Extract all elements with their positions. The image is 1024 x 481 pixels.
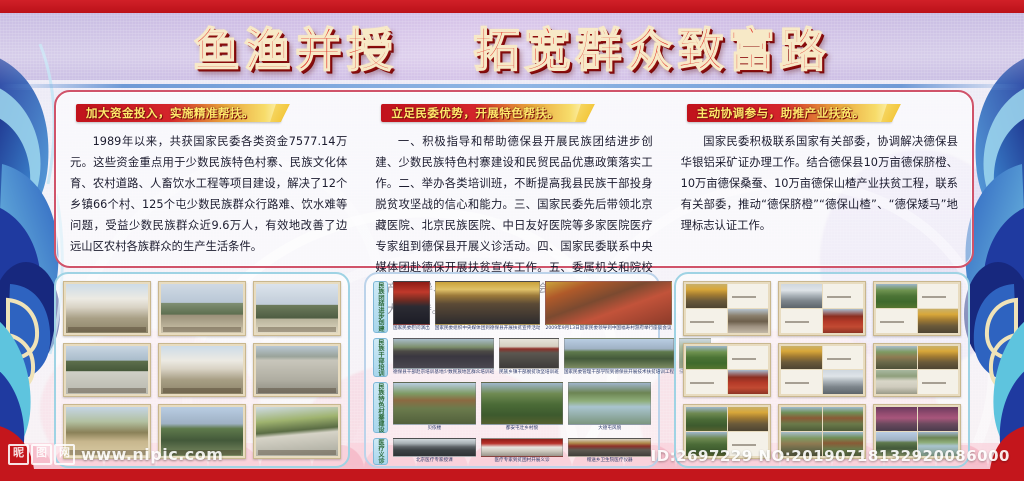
photo-caption: 国家民委慰问演出: [393, 325, 430, 333]
photo-frame: [253, 281, 341, 336]
bottom-red-bar: [0, 469, 1024, 481]
photo-frame: [253, 404, 341, 459]
photo-rows-middle: 民族团结进步创建国家民委慰问演出国家民委组织中央媒体团到德保县开展扶贫宣传活动2…: [373, 281, 651, 459]
photo-image: [393, 338, 494, 369]
photo-frame: [873, 404, 961, 459]
photo-image: [161, 284, 243, 333]
photo-image: [876, 407, 917, 431]
photo-image: [256, 284, 338, 333]
photo-frame: [158, 281, 246, 336]
photo-caption-bar: [163, 450, 241, 455]
photo-image: [918, 370, 959, 394]
photo-caption: 贝侬楼: [393, 425, 476, 433]
photo-image: [918, 432, 959, 456]
photo-collage: [781, 284, 863, 333]
photo-panel-middle: 民族团结进步创建国家民委慰问演出国家民委组织中央媒体团到德保县开展扶贫宣传活动2…: [364, 272, 660, 468]
photo-image: [918, 407, 959, 431]
top-red-bar: [0, 0, 1024, 13]
photo-image: [876, 346, 917, 370]
photo-collage: [876, 284, 958, 333]
photo-caption-bar: [163, 327, 241, 332]
photo-caption: 北京医疗专家授课: [393, 457, 476, 465]
photo-row: 医疗义诊北京医疗专家授课医疗专家到贫困村开展义诊赠送乡卫生院医疗仪器: [373, 438, 651, 465]
photo-collage: [781, 346, 863, 395]
photo-image: [481, 438, 564, 457]
photo-image: [823, 346, 864, 370]
photo-frame: [873, 281, 961, 336]
photo-image: [66, 346, 148, 395]
category-label: 医疗义诊: [373, 438, 388, 465]
photo-cell: 北京医疗专家授课: [393, 438, 476, 465]
photo-panel-left: [54, 272, 350, 468]
photo-caption-bar: [258, 388, 336, 393]
photo-caption-bar: [68, 388, 146, 393]
photo-image: [499, 338, 559, 369]
photo-image: [686, 407, 727, 431]
photo-frame: [63, 404, 151, 459]
photo-collage: [686, 284, 768, 333]
photo-panel-right: [674, 272, 970, 468]
photo-caption-bar: [258, 327, 336, 332]
photo-row: 民族特色村寨建设贝侬楼都安屯壮乡村貌大德屯风貌: [373, 382, 651, 434]
photo-cell: 国家民委组织中央媒体团到德保县开展扶贫宣传活动: [435, 281, 541, 333]
photo-frame: [778, 343, 866, 398]
photo-image: [823, 370, 864, 394]
photo-cell: 都安屯壮乡村貌: [481, 382, 564, 434]
page-title: 鱼渔并授 拓宽群众致富路: [0, 14, 1024, 80]
photo-caption-bar: [163, 388, 241, 393]
category-label-text: 民族干部培训: [377, 339, 384, 376]
header-label: 立足民委优势，开展特色帮扶。: [391, 105, 559, 121]
photo-image: [564, 338, 674, 369]
photo-grid-left: [63, 281, 341, 459]
photo-image: [435, 281, 541, 325]
photo-caption: 赠送乡卫生院医疗仪器: [568, 457, 651, 465]
photo-grid-right: [683, 281, 961, 459]
photo-caption: 国家民委组织中央媒体团到德保县开展扶贫宣传活动: [435, 325, 541, 333]
photo-caption: 大德屯风貌: [568, 425, 651, 433]
column-header-1: 加大资金投入，实施精准帮扶。: [76, 104, 341, 122]
photo-image: [256, 346, 338, 395]
photo-image: [686, 309, 727, 333]
text-columns: 加大资金投入，实施精准帮扶。 1989年以来，共获国家民委各类资金7577.14…: [56, 92, 972, 266]
photo-image: [686, 432, 727, 456]
title-part-2: 拓宽群众致富路: [474, 23, 831, 77]
photo-frame: [253, 343, 341, 398]
photo-image: [66, 284, 148, 333]
photo-image: [161, 346, 243, 395]
photo-image: [918, 284, 959, 308]
photo-frame: [63, 343, 151, 398]
photo-image: [686, 284, 727, 308]
photo-frame: [683, 404, 771, 459]
photo-caption: 德保县干部赴京培训基地少数民族地区群众培训班: [393, 369, 494, 377]
photo-frame: [683, 343, 771, 398]
photo-image: [876, 284, 917, 308]
photo-image: [728, 284, 769, 308]
photo-image: [393, 438, 476, 457]
photo-image: [918, 309, 959, 333]
photo-caption: 民族乡镇干部脱贫攻坚培训班: [499, 369, 559, 377]
photo-collage: [781, 407, 863, 456]
photo-image: [728, 346, 769, 370]
photo-image: [393, 382, 476, 426]
column-header-2: 立足民委优势，开展特色帮扶。: [381, 104, 646, 122]
category-label: 民族特色村寨建设: [373, 382, 388, 434]
photo-caption-bar: [258, 450, 336, 455]
photo-collage: [876, 407, 958, 456]
photo-image: [686, 370, 727, 394]
photo-caption: 医疗专家到贫困村开展义诊: [481, 457, 564, 465]
photo-image: [161, 407, 243, 456]
photo-cell: 医疗专家到贫困村开展义诊: [481, 438, 564, 465]
category-label-text: 民族团结进步创建: [377, 282, 384, 332]
photo-panels: 民族团结进步创建国家民委慰问演出国家民委组织中央媒体团到德保县开展扶贫宣传活动2…: [54, 272, 970, 468]
photo-image: [876, 432, 917, 456]
photo-image: [781, 284, 822, 308]
photo-image: [728, 432, 769, 456]
category-label: 民族干部培训: [373, 338, 388, 377]
photo-image: [66, 407, 148, 456]
photo-frame: [873, 343, 961, 398]
photo-collage: [876, 346, 958, 395]
photo-cell: 德保县干部赴京培训基地少数民族地区群众培训班: [393, 338, 494, 377]
photo-caption: 国家民委管理干部学院到德保县开展技术扶贫培训工程: [564, 369, 674, 377]
photo-frame: [63, 281, 151, 336]
photo-frame: [683, 281, 771, 336]
column-body-1: 1989年以来，共获国家民委各类资金7577.14万元。这些资金重点用于少数民族…: [70, 131, 347, 257]
photo-image: [876, 309, 917, 333]
photo-image: [781, 432, 822, 456]
photo-image: [481, 382, 564, 426]
column-header-3: 主动协调参与，助推产业扶贫。: [687, 104, 952, 122]
photo-caption: 2009年9月13日国家民委领导到中国福寿村游府举行座谈会议: [545, 325, 671, 333]
photo-image: [728, 309, 769, 333]
category-label-text: 医疗义诊: [377, 439, 384, 464]
header-label: 主动协调参与，助推产业扶贫。: [697, 105, 865, 121]
photo-image: [781, 370, 822, 394]
photo-caption: 都安屯壮乡村貌: [481, 425, 564, 433]
photo-cell: 2009年9月13日国家民委领导到中国福寿村游府举行座谈会议: [545, 281, 671, 333]
photo-cells: 国家民委慰问演出国家民委组织中央媒体团到德保县开展扶贫宣传活动2009年9月13…: [393, 281, 672, 333]
photo-image: [568, 438, 651, 457]
photo-image: [876, 370, 917, 394]
photo-cell: 大德屯风貌: [568, 382, 651, 434]
photo-collage: [686, 346, 768, 395]
text-panel: 加大资金投入，实施精准帮扶。 1989年以来，共获国家民委各类资金7577.14…: [54, 90, 974, 268]
photo-cells: 北京医疗专家授课医疗专家到贫困村开展义诊赠送乡卫生院医疗仪器: [393, 438, 651, 465]
poster-board: 鱼渔并授 拓宽群众致富路 加大资金投入，实施精准帮扶。 1989年以来，共获国家…: [0, 0, 1024, 481]
photo-image: [256, 407, 338, 456]
photo-image: [823, 309, 864, 333]
text-column-2: 立足民委优势，开展特色帮扶。 一、积极指导和帮助德保县开展民族团结进步创建、少数…: [361, 92, 666, 266]
photo-frame: [778, 404, 866, 459]
photo-image: [781, 346, 822, 370]
text-column-3: 主动协调参与，助推产业扶贫。 国家民委积极联系国家有关部委，协调解决德保县华银铝…: [667, 92, 972, 266]
photo-image: [728, 407, 769, 431]
photo-image: [823, 432, 864, 456]
photo-caption-bar: [68, 450, 146, 455]
photo-image: [781, 309, 822, 333]
photo-row: 民族团结进步创建国家民委慰问演出国家民委组织中央媒体团到德保县开展扶贫宣传活动2…: [373, 281, 651, 333]
photo-image: [686, 346, 727, 370]
photo-image: [545, 281, 671, 325]
photo-cell: 国家民委慰问演出: [393, 281, 430, 333]
photo-frame: [778, 281, 866, 336]
photo-image: [781, 407, 822, 431]
text-column-1: 加大资金投入，实施精准帮扶。 1989年以来，共获国家民委各类资金7577.14…: [56, 92, 361, 266]
photo-image: [823, 284, 864, 308]
photo-cell: 民族乡镇干部脱贫攻坚培训班: [499, 338, 559, 377]
category-label-text: 民族特色村寨建设: [377, 383, 384, 433]
column-body-3: 国家民委积极联系国家有关部委，协调解决德保县华银铝采矿证办理工作。结合德保县10…: [681, 131, 958, 236]
photo-image: [393, 281, 430, 325]
photo-frame: [158, 343, 246, 398]
photo-image: [918, 346, 959, 370]
photo-image: [728, 370, 769, 394]
photo-image: [823, 407, 864, 431]
header-label: 加大资金投入，实施精准帮扶。: [86, 105, 254, 121]
photo-collage: [686, 407, 768, 456]
photo-caption-bar: [68, 327, 146, 332]
photo-frame: [158, 404, 246, 459]
category-label: 民族团结进步创建: [373, 281, 388, 333]
photo-cell: 贝侬楼: [393, 382, 476, 434]
photo-cell: 赠送乡卫生院医疗仪器: [568, 438, 651, 465]
title-part-1: 鱼渔并授: [193, 23, 397, 77]
photo-image: [568, 382, 651, 426]
photo-cells: 德保县干部赴京培训基地少数民族地区群众培训班民族乡镇干部脱贫攻坚培训班国家民委管…: [393, 338, 711, 377]
photo-cells: 贝侬楼都安屯壮乡村貌大德屯风貌: [393, 382, 651, 434]
photo-cell: 国家民委管理干部学院到德保县开展技术扶贫培训工程: [564, 338, 674, 377]
photo-row: 民族干部培训德保县干部赴京培训基地少数民族地区群众培训班民族乡镇干部脱贫攻坚培训…: [373, 338, 651, 377]
